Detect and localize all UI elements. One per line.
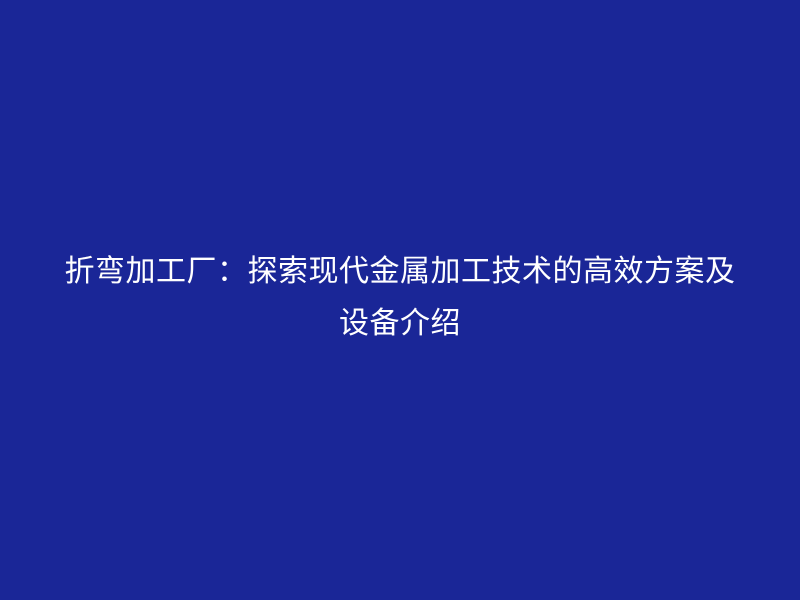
title-slide: 折弯加工厂：探索现代金属加工技术的高效方案及设备介绍: [0, 0, 800, 600]
page-title: 折弯加工厂：探索现代金属加工技术的高效方案及设备介绍: [55, 246, 745, 350]
title-block: 折弯加工厂：探索现代金属加工技术的高效方案及设备介绍: [55, 246, 745, 350]
